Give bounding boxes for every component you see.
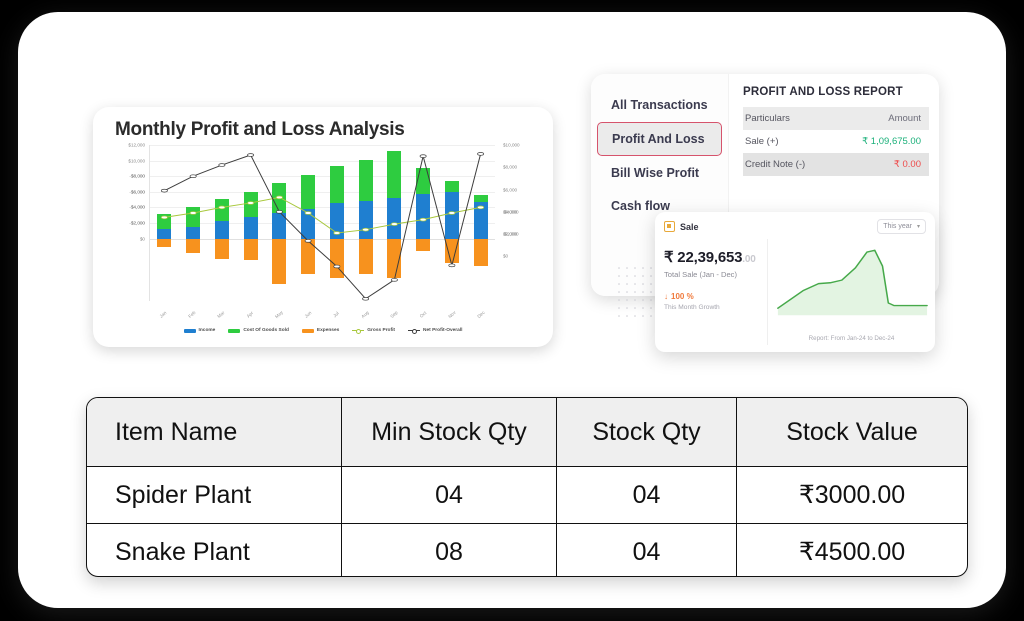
column-header-item-name: Item Name [87,398,342,466]
dot [618,291,620,293]
chart-left-axis: $12,000$10,000$8,000$6,000$4,000$2,000$0… [105,145,147,301]
dot [618,275,620,277]
dot [650,315,652,317]
chart-line-marker [391,278,397,281]
cell-item-name: Snake Plant [87,524,342,577]
table-row: Spider Plant 04 04 ₹3000.00 [87,466,967,523]
left-axis-tick: $10,000 [128,158,145,163]
chart-line-marker [363,297,369,300]
dot [634,283,636,285]
cell-stock-qty: 04 [557,524,737,577]
legend-item: Income [184,328,216,333]
growth-indicator: ↓ 100 % [664,292,767,301]
legend-label: Expenses [317,328,339,333]
legend-item: Cost Of Goods Sold [228,328,289,333]
chart-line-marker [219,206,225,209]
sale-card-title: Sale [680,222,699,232]
legend-label: Income [199,328,216,333]
dot [642,291,644,293]
chart-line-marker [276,210,282,213]
dot [618,315,620,317]
chart-line-marker [248,202,254,205]
chart-line-marker [334,265,340,268]
chart-line-marker [219,164,225,167]
left-axis-tick: -$8,000 [129,174,145,179]
growth-caption: This Month Growth [664,304,767,311]
report-row-label: Sale (+) [745,136,779,147]
right-axis-tick: -$4,000 [503,209,519,214]
chart-line-marker [363,228,369,231]
dot [650,283,652,285]
report-nav-item-label: Cash flow [611,199,670,213]
column-header-stock-qty: Stock Qty [557,398,737,466]
legend-label: Gross Profit [367,328,395,333]
right-axis-tick: $0 [503,254,508,259]
report-icon [664,221,675,232]
sale-card-stats: ₹ 22,39,653.00 Total Sale (Jan - Dec) ↓ … [655,239,768,345]
cell-stock-qty: 04 [557,467,737,523]
chart-line-marker [190,175,196,178]
chart-line-marker [478,206,484,209]
dot [650,267,652,269]
chart-title: Monthly Profit and Loss Analysis [115,119,541,141]
main-white-card: Monthly Profit and Loss Analysis $12,000… [18,12,1006,608]
cell-stock-value: ₹3000.00 [737,467,967,523]
dot [650,307,652,309]
dot [618,283,620,285]
legend-swatch [184,329,196,333]
right-axis-tick: $6,000 [503,187,517,192]
x-axis-label: Jan [159,310,168,319]
right-axis-tick: $10,000 [503,143,520,148]
report-row-credit-note: Credit Note (-) ₹ 0.00 [743,153,929,176]
report-nav-item-label: Profit And Loss [612,132,705,146]
legend-swatch [302,329,314,333]
x-axis-label: Oct [419,310,428,319]
chart-line-marker [420,155,426,158]
x-axis-label: Apr [246,310,255,319]
legend-label: Net Profit-Overall [423,328,462,333]
chart-line-marker [161,189,167,192]
stock-table-header-row: Item Name Min Stock Qty Stock Qty Stock … [87,398,967,466]
chart-plot-wrapper: $12,000$10,000$8,000$6,000$4,000$2,000$0… [105,145,541,323]
report-nav-item-label: All Transactions [611,98,708,112]
report-row-label: Credit Note (-) [745,159,805,170]
report-nav-item-bill-wise-profit[interactable]: Bill Wise Profit [597,157,722,189]
report-heading: PROFIT AND LOSS REPORT [743,86,929,98]
dot [634,291,636,293]
x-axis-label: Dec [476,310,485,319]
column-header-min-stock-qty: Min Stock Qty [342,398,557,466]
legend-swatch [228,329,240,333]
chevron-down-icon: ▾ [917,223,920,230]
dot [626,299,628,301]
report-row-amount: ₹ 0.00 [894,159,921,170]
chart-line-marker [478,153,484,156]
chart-line-net-profit-overall [164,154,480,299]
x-axis-label: Jun [303,310,312,319]
chart-line-marker [248,154,254,157]
legend-label: Cost Of Goods Sold [243,328,289,333]
x-axis-label: May [274,310,284,320]
report-col-particulars: Particulars [745,113,790,124]
dot [634,275,636,277]
profit-loss-chart-card: Monthly Profit and Loss Analysis $12,000… [93,107,553,347]
left-axis-tick: $12,000 [128,143,145,148]
x-axis-label: Feb [188,310,197,319]
dot [642,283,644,285]
report-table-header: Particulars Amount [743,107,929,130]
chart-legend: IncomeCost Of Goods SoldExpensesGross Pr… [105,325,541,333]
dot [634,267,636,269]
sale-total-caption: Total Sale (Jan - Dec) [664,270,767,279]
dot [650,291,652,293]
sale-total-amount: ₹ 22,39,653.00 [664,248,767,266]
left-axis-tick: $0 [140,236,145,241]
dot [626,307,628,309]
left-axis-tick: -$4,000 [129,205,145,210]
x-axis-label: Aug [361,310,370,319]
cell-stock-value: ₹4500.00 [737,524,967,577]
dot [618,307,620,309]
report-col-amount: Amount [888,113,921,124]
dot [642,315,644,317]
right-axis-tick: -$2,000 [503,232,519,237]
sale-card-header-left: Sale [664,221,699,232]
sale-card-body: ₹ 22,39,653.00 Total Sale (Jan - Dec) ↓ … [655,239,935,345]
dot [642,307,644,309]
dot [650,299,652,301]
sale-trend-svg [774,245,929,317]
sale-trend-chart: Report: From Jan-24 to Dec-24 [768,239,935,345]
chart-x-axis-labels: JanFebMarAprMayJunJulAugSepOctNovDec [149,301,495,323]
chart-line-marker [449,264,455,267]
chart-line-marker [391,223,397,226]
dot [626,291,628,293]
dot [626,275,628,277]
cell-min-stock-qty: 04 [342,467,557,523]
sale-total-amount-decimal: .00 [742,254,755,265]
dot [642,275,644,277]
chart-line-marker [305,239,311,242]
dot [634,315,636,317]
legend-item: Net Profit-Overall [408,328,462,333]
growth-value: 100 % [671,292,694,301]
report-nav-item-label: Bill Wise Profit [611,166,699,180]
report-nav-item-all-transactions[interactable]: All Transactions [597,89,722,121]
dot [642,299,644,301]
dot [626,315,628,317]
report-nav-item-profit-and-loss[interactable]: Profit And Loss [597,122,722,156]
dot [634,299,636,301]
chart-line-marker [420,218,426,221]
arrow-down-icon: ↓ [664,292,668,301]
left-axis-tick: -$2,000 [129,221,145,226]
dot [618,267,620,269]
cell-min-stock-qty: 08 [342,524,557,577]
cell-item-name: Spider Plant [87,467,342,523]
screenshot-root: Monthly Profit and Loss Analysis $12,000… [0,0,1024,621]
right-axis-tick: $8,000 [503,165,517,170]
x-axis-label: Sep [389,310,398,319]
x-axis-label: Jul [333,311,341,319]
sale-card-header: Sale This year ▾ [655,212,935,239]
sale-summary-card: Sale This year ▾ ₹ 22,39,653.00 Total Sa… [655,212,935,352]
legend-swatch [408,330,420,331]
chart-line-marker [161,216,167,219]
chart-right-axis: $10,000$8,000$6,000$4,000$2,000$0-$2,000… [499,145,541,301]
dot [618,299,620,301]
table-row: Snake Plant 08 04 ₹4500.00 [87,523,967,577]
dot [650,275,652,277]
dot [634,307,636,309]
dot [626,267,628,269]
period-dropdown[interactable]: This year ▾ [877,219,926,234]
legend-item: Expenses [302,328,339,333]
report-row-sale: Sale (+) ₹ 1,09,675.00 [743,130,929,153]
chart-line-marker [449,212,455,215]
dot [626,283,628,285]
column-header-stock-value: Stock Value [737,398,967,466]
report-row-amount: ₹ 1,09,675.00 [862,136,921,147]
x-axis-label: Mar [216,310,225,319]
chart-line-gross-profit [164,197,480,233]
chart-line-marker [305,212,311,215]
sale-report-footer: Report: From Jan-24 to Dec-24 [768,335,935,342]
left-axis-tick: -$6,000 [129,189,145,194]
legend-item: Gross Profit [352,328,395,333]
dot [642,267,644,269]
chart-line-overlay [150,145,495,301]
period-dropdown-label: This year [883,223,912,230]
stock-table: Item Name Min Stock Qty Stock Qty Stock … [86,397,968,577]
chart-line-marker [190,212,196,215]
chart-plot-area [149,145,495,301]
chart-line-marker [276,196,282,199]
chart-line-marker [334,232,340,235]
legend-swatch [352,330,364,331]
sale-total-amount-main: ₹ 22,39,653 [664,249,742,266]
x-axis-label: Nov [447,310,456,319]
